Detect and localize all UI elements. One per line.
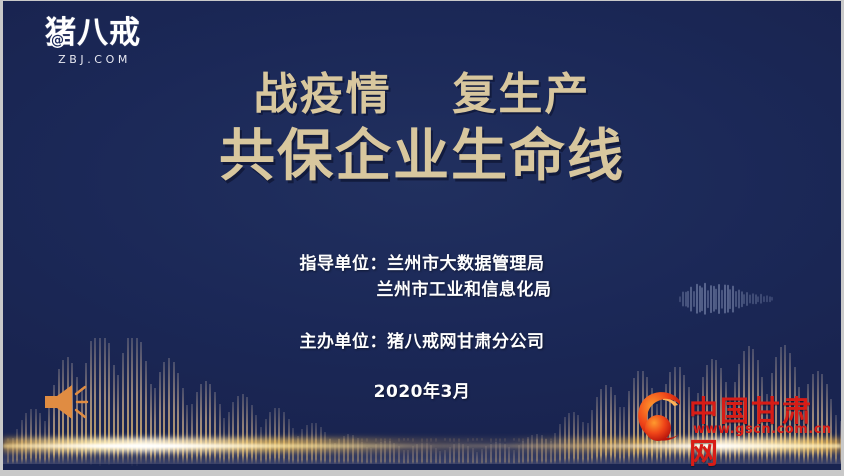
- credits-block: 指导单位：兰州市大数据管理局 兰州市工业和信息化局 主办单位：猪八戒网甘肃分公司…: [3, 251, 841, 402]
- credits-spacer: [3, 303, 841, 329]
- gscn-swirl-icon: [633, 388, 691, 446]
- poster-slide: 猪八戒 @ ZBJ.COM 战疫情 复生产 共保企业生命线 指导单位：兰州市大数…: [0, 0, 844, 476]
- organizer-line: 主办单位：猪八戒网甘肃分公司: [3, 329, 841, 355]
- brand-domain: ZBJ.COM: [33, 53, 153, 66]
- gscn-url: www.gscn.com.cn: [693, 422, 832, 437]
- title-line-1: 战疫情 复生产: [3, 73, 841, 117]
- title-line-1-part-2: 复生产: [452, 69, 590, 120]
- guidance-line-1: 指导单位：兰州市大数据管理局: [3, 251, 841, 277]
- title-line-1-part-1: 战疫情: [254, 69, 392, 120]
- at-symbol-icon: @: [50, 33, 65, 48]
- title-line-2: 共保企业生命线: [3, 129, 841, 185]
- zbj-logo: 猪八戒 @ ZBJ.COM: [33, 17, 153, 66]
- guidance-line-2: 兰州市工业和信息化局: [3, 277, 841, 303]
- gscn-partner-logo: 中国甘肃网 www.gscn.com.cn: [633, 386, 833, 450]
- title-block: 战疫情 复生产 共保企业生命线: [3, 73, 841, 185]
